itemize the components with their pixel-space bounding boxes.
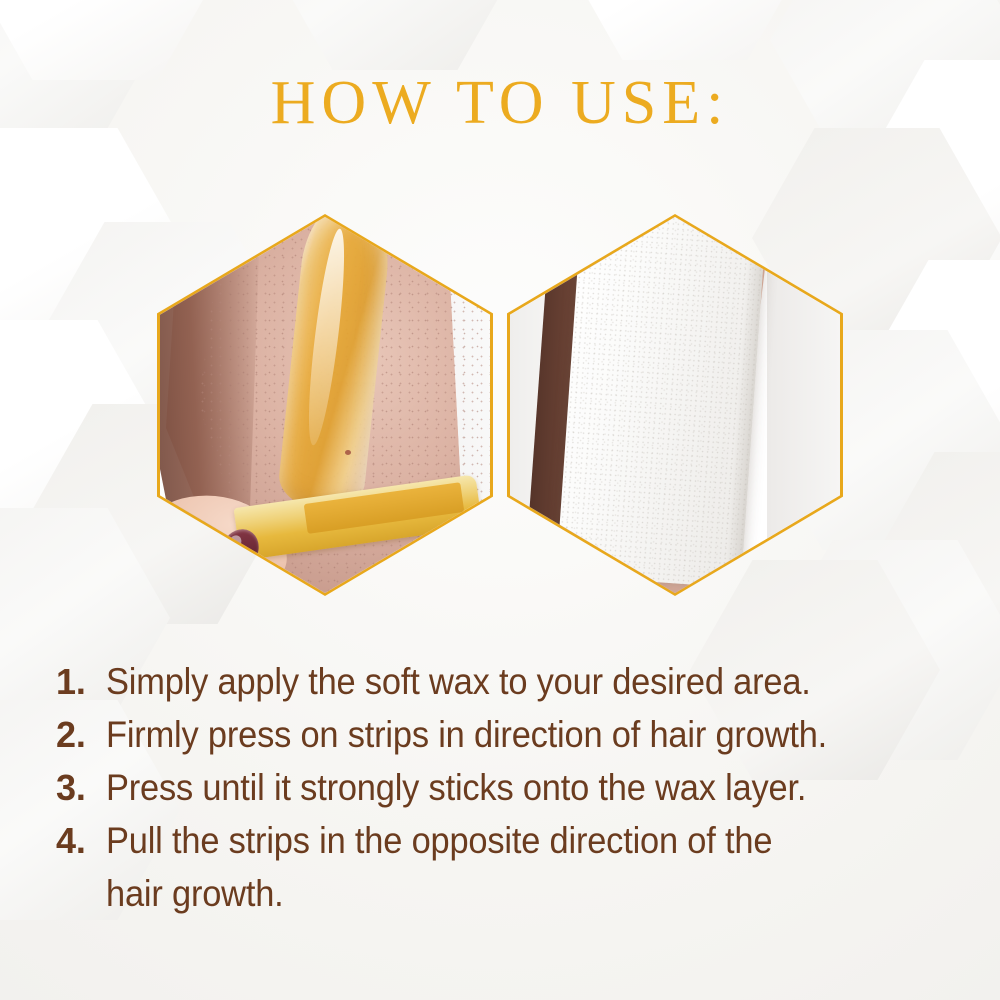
hexagon-decor — [270, 0, 520, 70]
instruction-list: 1. Simply apply the soft wax to your des… — [56, 655, 966, 920]
wax-strip-photo — [507, 214, 843, 596]
how-to-use-infographic: HOW TO USE: — [0, 0, 1000, 1000]
wax-application-photo — [157, 214, 493, 596]
hexagon-photo-clip — [160, 217, 490, 593]
photo-backdrop-right — [767, 217, 840, 593]
list-item: 4. Pull the strips in the opposite direc… — [56, 814, 966, 920]
step-number: 4. — [56, 814, 106, 867]
step-text: Pull the strips in the opposite directio… — [106, 814, 906, 920]
hexagon-decor — [866, 260, 1000, 480]
step-number: 3. — [56, 761, 106, 814]
skin-mark — [345, 450, 351, 455]
list-item: 2. Firmly press on strips in direction o… — [56, 708, 966, 761]
hexagon-decor — [0, 128, 180, 348]
step-text: Firmly press on strips in direction of h… — [106, 708, 906, 761]
wax-strip-illustration — [510, 217, 840, 593]
page-title: HOW TO USE: — [0, 72, 1000, 134]
step-number: 1. — [56, 655, 106, 708]
wax-application-illustration — [160, 217, 490, 593]
step-text: Press until it strongly sticks onto the … — [106, 761, 906, 814]
white-wax-strip — [557, 217, 768, 588]
step-number: 2. — [56, 708, 106, 761]
hexagon-photo-clip — [510, 217, 840, 593]
hexagon-decor — [0, 0, 220, 80]
hexagon-decor — [560, 0, 810, 60]
hexagon-decor — [0, 320, 160, 540]
step-text: Simply apply the soft wax to your desire… — [106, 655, 906, 708]
hexagon-decor — [872, 452, 1000, 672]
list-item: 3. Press until it strongly sticks onto t… — [56, 761, 966, 814]
list-item: 1. Simply apply the soft wax to your des… — [56, 655, 966, 708]
